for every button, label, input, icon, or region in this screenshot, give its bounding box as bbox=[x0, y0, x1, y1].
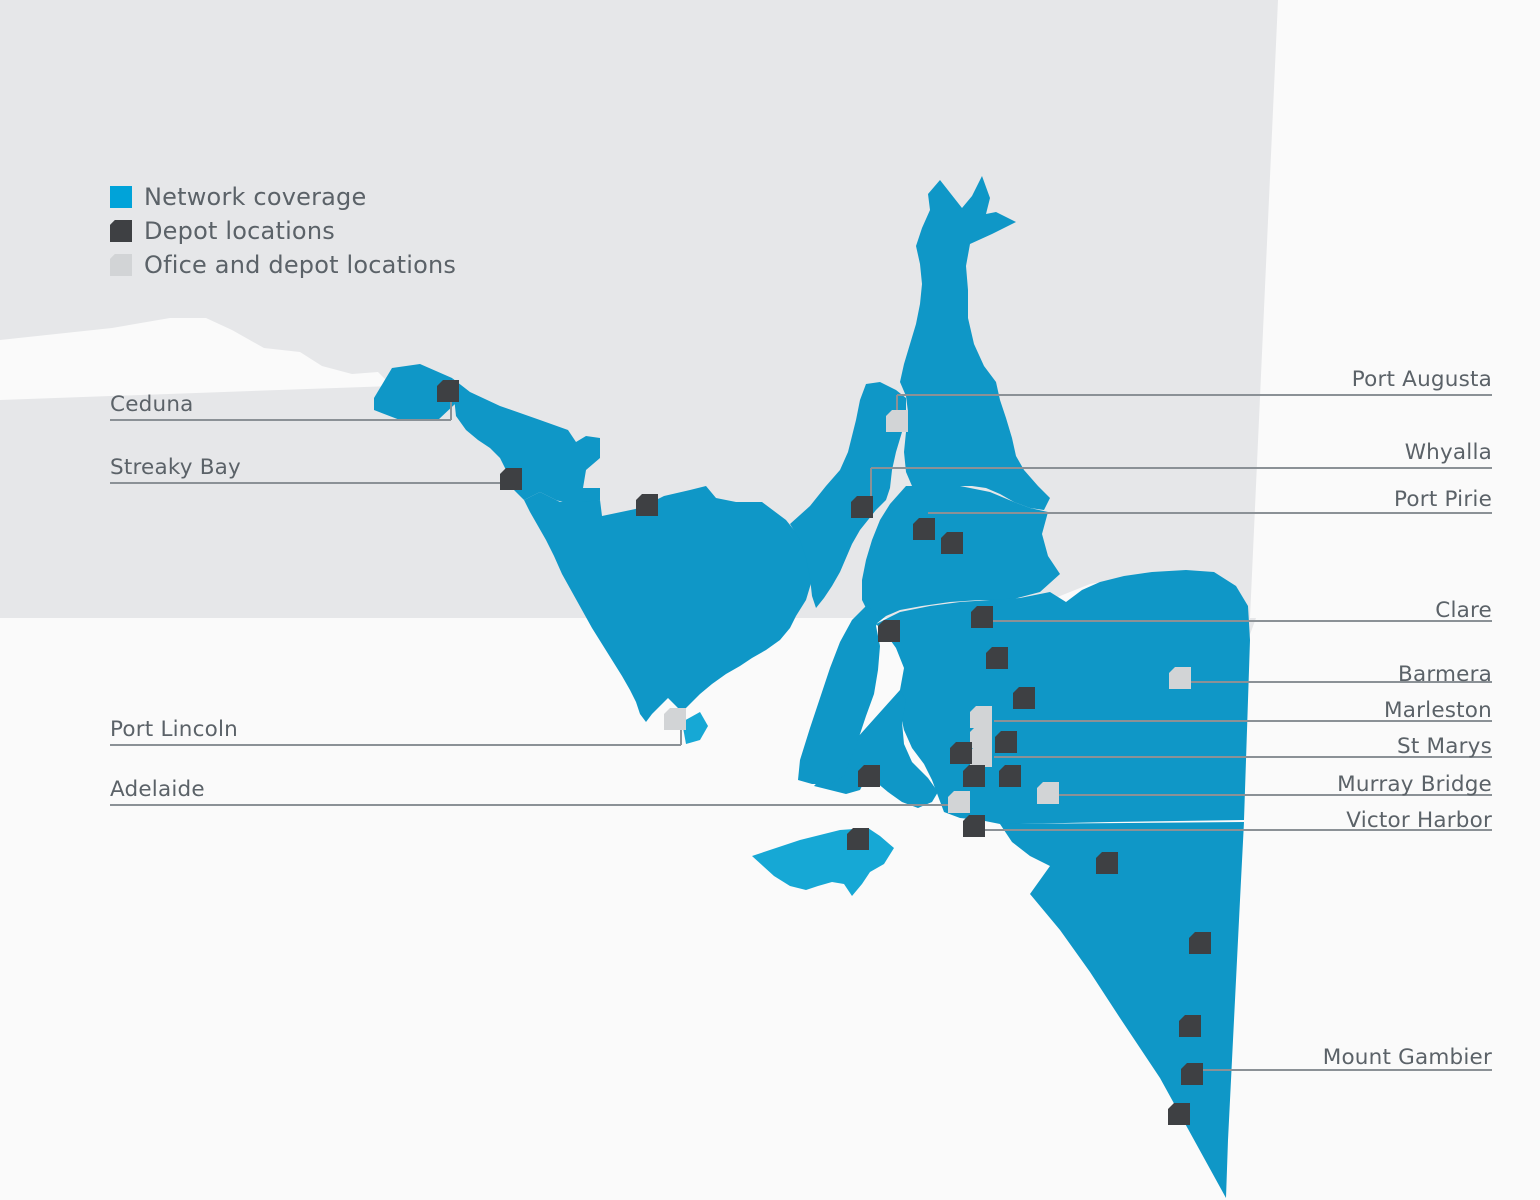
square-swatch-icon bbox=[110, 186, 132, 208]
marker-millicent-depot[interactable] bbox=[1168, 1103, 1190, 1125]
office-depot-marker-icon bbox=[110, 254, 132, 276]
marker-keith-depot[interactable] bbox=[1189, 932, 1211, 954]
depot-marker-icon bbox=[110, 220, 132, 242]
marker-whyalla-depot[interactable] bbox=[913, 518, 935, 540]
map-canvas: Network coverage Depot locations Ofice a… bbox=[0, 0, 1540, 1200]
callout-label-whyalla: Whyalla bbox=[0, 440, 1492, 465]
marker-naracoorte-depot[interactable] bbox=[1179, 1015, 1201, 1037]
callout-label-ceduna: Ceduna bbox=[110, 392, 194, 417]
marker-port-augusta-office[interactable] bbox=[886, 410, 908, 432]
callout-label-st-marys: St Marys bbox=[0, 734, 1492, 759]
callout-label-barmera: Barmera bbox=[0, 662, 1492, 687]
legend-label-network-coverage: Network coverage bbox=[144, 183, 366, 211]
callout-label-murray-bridge: Murray Bridge bbox=[0, 772, 1492, 797]
map-legend: Network coverage Depot locations Ofice a… bbox=[110, 180, 456, 282]
legend-label-office-depot-locations: Ofice and depot locations bbox=[144, 251, 456, 279]
callout-label-port-pirie: Port Pirie bbox=[0, 487, 1492, 512]
legend-label-depot-locations: Depot locations bbox=[144, 217, 335, 245]
legend-item-depot-locations: Depot locations bbox=[110, 214, 456, 248]
callout-label-mount-gambier: Mount Gambier bbox=[0, 1045, 1492, 1070]
legend-item-office-depot-locations: Ofice and depot locations bbox=[110, 248, 456, 282]
marker-tailem-bend-depot[interactable] bbox=[1096, 852, 1118, 874]
callout-label-victor-harbor: Victor Harbor bbox=[0, 808, 1492, 833]
marker-crystal-brook-depot[interactable] bbox=[878, 620, 900, 642]
callout-label-marleston: Marleston bbox=[0, 698, 1492, 723]
callout-label-port-augusta: Port Augusta bbox=[0, 367, 1492, 392]
legend-item-network-coverage: Network coverage bbox=[110, 180, 456, 214]
callout-label-clare: Clare bbox=[0, 598, 1492, 623]
marker-port-pirie-depot[interactable] bbox=[941, 532, 963, 554]
